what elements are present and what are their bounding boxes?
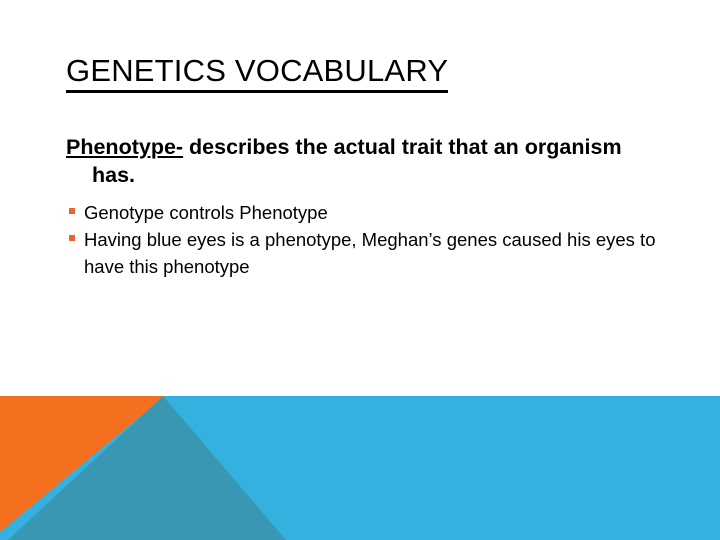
body-block: Phenotype- describes the actual trait th… [66,134,666,281]
definition-paragraph: Phenotype- describes the actual trait th… [66,134,666,189]
slide: GENETICS VOCABULARY Phenotype- describes… [0,0,720,540]
vocabulary-term: Phenotype- [66,135,183,159]
square-bullet-icon [69,208,75,214]
square-bullet-icon [69,235,75,241]
title-block: GENETICS VOCABULARY [66,33,666,114]
page-title: GENETICS VOCABULARY [66,54,448,93]
list-item: Having blue eyes is a phenotype, Meghan’… [66,226,666,280]
list-item-label: Genotype controls Phenotype [84,199,666,226]
footer-decoration-band [0,396,720,540]
bullet-list: Genotype controls Phenotype Having blue … [66,199,666,281]
list-item: Genotype controls Phenotype [66,199,666,226]
teal-triangle-shape [0,396,290,540]
list-item-label: Having blue eyes is a phenotype, Meghan’… [84,226,666,280]
